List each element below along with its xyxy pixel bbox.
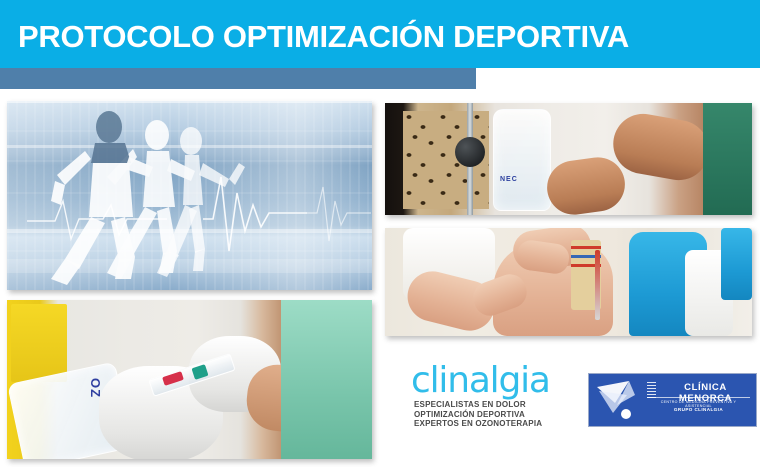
clinica-menorca-logo: CLÍNICA MENORCA CENTRO DE MEDICINA PREVE… [588, 373, 757, 427]
header-accent-bar [0, 68, 476, 89]
athletes-photo-background [7, 101, 372, 290]
iv-fluid-bag: NEC [493, 109, 551, 211]
menorca-triangle-mark [595, 379, 641, 421]
anatomical-runners-photo [7, 101, 372, 290]
iv-bag-brand-label: NEC [500, 176, 518, 183]
model-stand-rod [595, 250, 600, 320]
menorca-text-block: CLÍNICA MENORCA CENTRO DE MEDICINA PREVE… [647, 380, 750, 420]
page-title: PROTOCOLO OPTIMIZACIÓN DEPORTIVA [18, 18, 629, 56]
ozone-injection-photo: OZ [7, 300, 372, 459]
knee-examination-photo [385, 228, 752, 336]
patient-hand [544, 154, 629, 215]
clinalgia-tagline-line-1: ESPECIALISTAS EN DOLOR [414, 400, 569, 410]
ozone-photo-background: OZ [7, 300, 372, 459]
clinalgia-tagline-line-3: EXPERTOS EN OZONOTERAPIA [414, 419, 569, 429]
menorca-group-label: GRUPO CLINALGIA [647, 407, 750, 412]
iv-infusion-photo: NEC [385, 103, 752, 215]
menorca-divider [647, 397, 750, 398]
knee-photo-background [385, 228, 752, 336]
yellow-sharps-container [11, 304, 67, 382]
green-scrub-uniform [703, 103, 752, 215]
iv-pole-knob [455, 137, 485, 167]
clinalgia-logo: clinalgia ESPECIALISTAS EN DOLOR OPTIMIZ… [411, 362, 569, 429]
infusion-photo-background: NEC [385, 103, 752, 215]
clinalgia-wordmark: clinalgia [411, 362, 569, 400]
ekg-waveform-icon [7, 101, 372, 290]
green-surgical-gown [281, 300, 372, 459]
clinician-arm [609, 109, 714, 185]
footer-logos: clinalgia ESPECIALISTAS EN DOLOR OPTIMIZ… [411, 362, 756, 442]
clinalgia-tagline-line-2: OPTIMIZACIÓN DEPORTIVA [414, 410, 569, 420]
patient-blue-shoulder [721, 228, 752, 300]
menorca-bars-icon [647, 382, 656, 398]
